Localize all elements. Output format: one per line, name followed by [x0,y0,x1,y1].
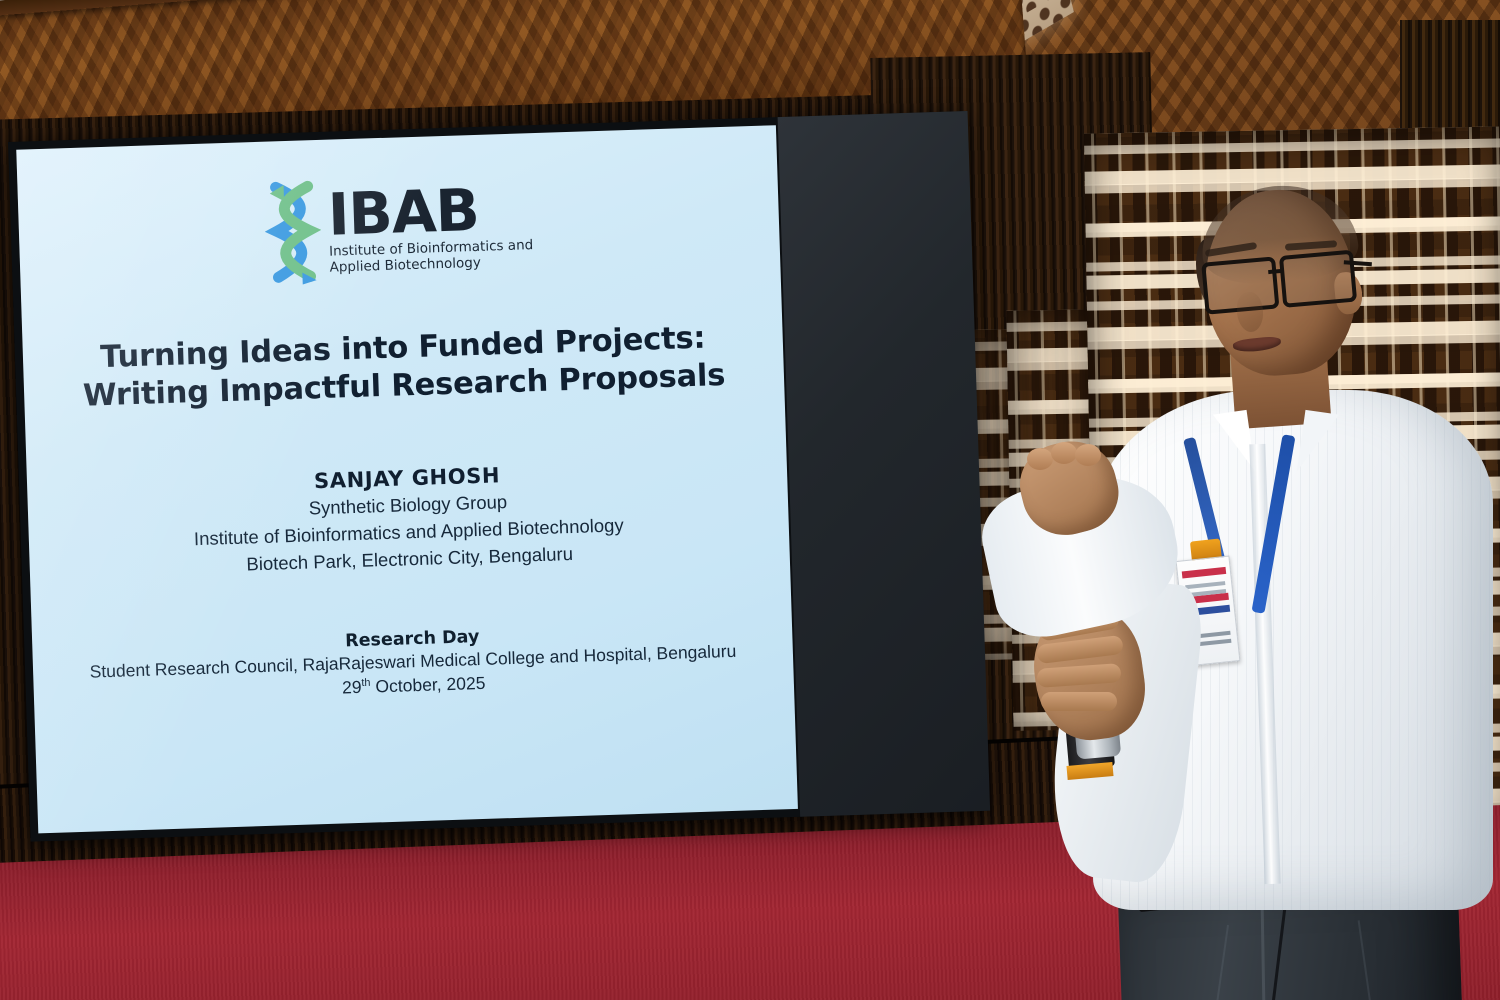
hand-left-knuckle-1 [1027,448,1053,470]
presenter-info: SANJAY GHOSH Synthetic Biology Group Ins… [45,454,772,583]
projection-screen[interactable]: IBAB Institute of Bioinformatics and App… [16,125,798,833]
slide-title: Turning Ideas into Funded Projects: Writ… [40,318,766,418]
conference-hall-scene: IBAB Institute of Bioinformatics and App… [0,0,1500,1000]
speaker-figure [1005,180,1500,1000]
ibab-logo: IBAB Institute of Bioinformatics and App… [36,166,763,295]
hand-right-finger-4 [1041,692,1117,711]
event-date-rest: October, 2025 [370,673,485,697]
event-info: Research Day Student Research Council, R… [50,618,776,710]
dna-helix-logo-icon [264,180,323,288]
presentation-slide: IBAB Institute of Bioinformatics and App… [16,125,798,833]
event-date-day: 29 [342,677,362,698]
ibab-subtitle: Institute of Bioinformatics and Applied … [329,238,534,276]
event-date-ordinal: th [361,677,370,689]
hand-left-knuckle-2 [1051,442,1077,464]
projection-screen-frame: IBAB Institute of Bioinformatics and App… [8,111,988,842]
ibab-logo-text: IBAB Institute of Bioinformatics and App… [327,182,534,277]
dark-wall-panel-right-of-screen [778,111,990,817]
eyeglass-lens-right [1279,250,1357,308]
hand-left-knuckle-3 [1075,444,1101,466]
ibab-acronym: IBAB [327,182,533,242]
